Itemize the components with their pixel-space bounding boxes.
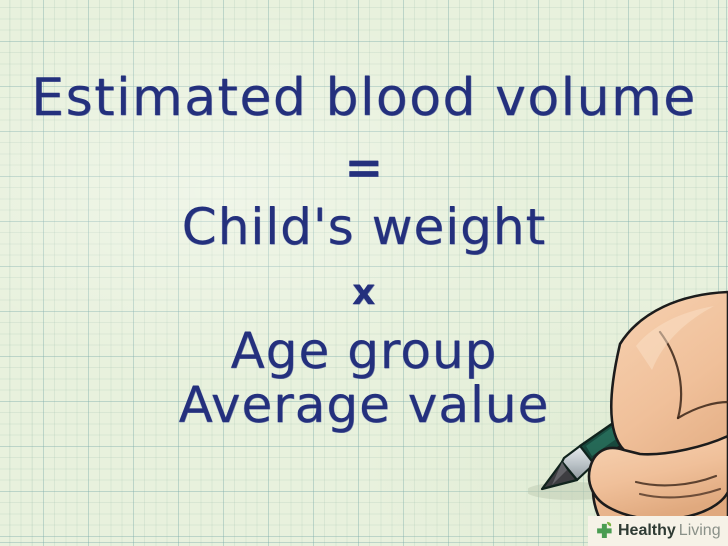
formula-term-child-weight: Child's weight — [0, 198, 728, 256]
logo-word-healthy: Healthy — [618, 522, 676, 539]
healthy-living-logo: HealthyLiving — [588, 516, 728, 546]
healthy-living-cross-leaf-icon — [594, 520, 616, 542]
formula-term-average-value: Average value — [0, 376, 728, 434]
formula-title: Estimated blood volume — [0, 68, 728, 128]
logo-word-living: Living — [679, 522, 721, 539]
formula-multiply-sign: x — [0, 272, 728, 313]
logo-wordmark: HealthyLiving — [618, 523, 721, 539]
formula-term-age-group: Age group — [0, 322, 728, 380]
formula-equals-sign: = — [0, 140, 728, 194]
graph-paper-illustration: Estimated blood volume = Child's weight … — [0, 0, 728, 546]
